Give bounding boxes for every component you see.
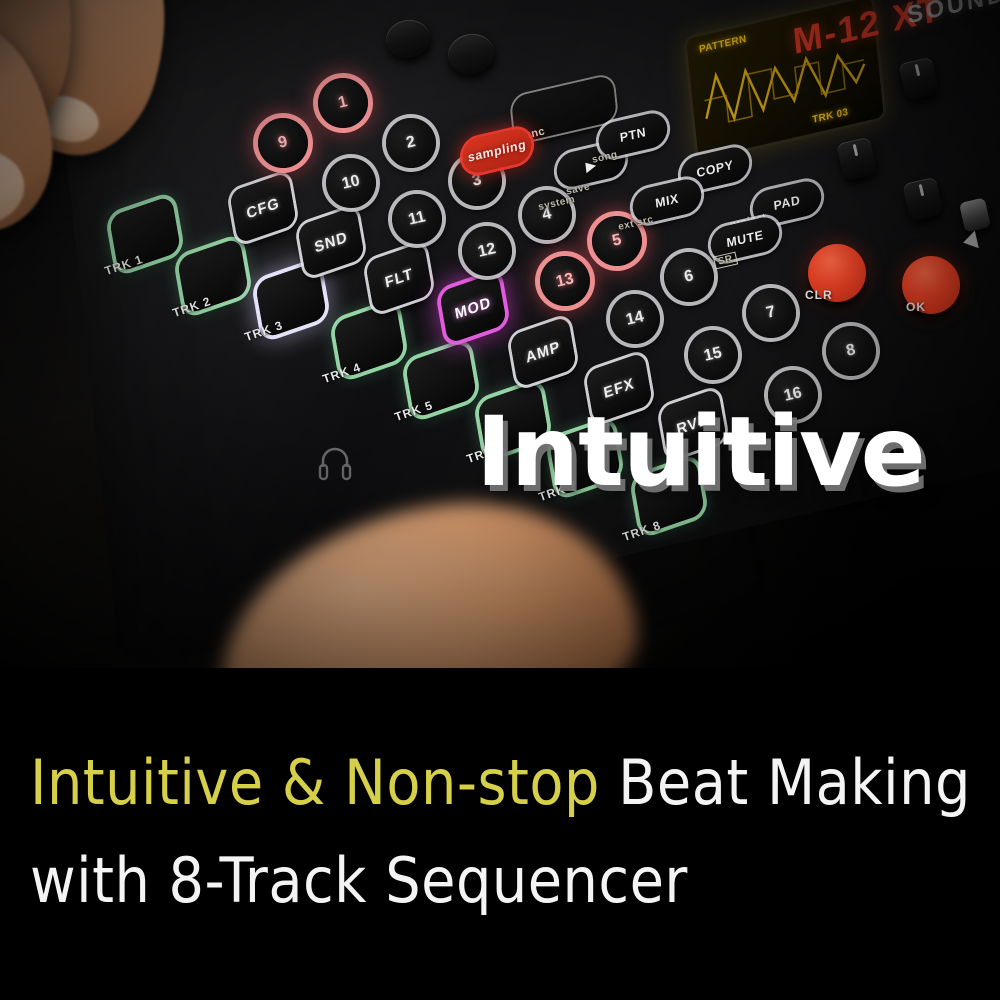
step-button-11-label: 11 <box>407 208 428 229</box>
step-button-9-label: 9 <box>277 133 290 153</box>
function-pad-flt-label: FLT <box>384 265 415 292</box>
step-button-1-label: 1 <box>337 93 350 113</box>
step-button-2-label: 2 <box>405 133 418 153</box>
function-pad-amp-label: AMP <box>524 338 561 367</box>
step-button-8-label: 8 <box>845 341 858 361</box>
utility-key-pad-label: PAD <box>773 193 801 213</box>
step-button-7-label: 7 <box>765 303 778 323</box>
function-pad-snd-label: SND <box>313 228 349 256</box>
step-button-3-label: 3 <box>471 171 484 191</box>
utility-key-mix-label: MIX <box>655 191 680 210</box>
caption-line-1: Intuitive & Non-stop Beat Making <box>30 752 971 814</box>
step-button-6-label: 6 <box>683 267 696 287</box>
user-hand <box>0 0 270 300</box>
product-photo: PATTERN TRK 03 M-12 XT SOUNDCARE TRK 1 T… <box>0 0 1000 668</box>
headphone-icon <box>318 443 352 487</box>
lcd-label-top: PATTERN <box>699 34 747 56</box>
ok-button-label: OK <box>906 300 926 314</box>
step-button-10-label: 10 <box>340 172 361 194</box>
step-button-12-label: 12 <box>476 240 497 262</box>
step-button-5-label: 5 <box>611 231 624 251</box>
step-button-14-label: 14 <box>624 308 645 330</box>
caption-line-1-accent: Intuitive & Non-stop <box>30 746 618 819</box>
overlay-headline: Intuitive <box>476 404 925 500</box>
utility-key-mute-label: MUTE <box>726 228 764 251</box>
function-pad-mod-label: MOD <box>454 293 493 322</box>
caption-band: Intuitive & Non-stop Beat Making with 8-… <box>0 668 1000 1000</box>
caption-line-2: with 8-Track Sequencer <box>30 850 688 912</box>
utility-key-ptn-label: PTN <box>619 125 647 145</box>
caption-line-1-plain: Beat Making <box>618 746 971 819</box>
promo-slide: PATTERN TRK 03 M-12 XT SOUNDCARE TRK 1 T… <box>0 0 1000 1000</box>
step-button-15-label: 15 <box>702 344 723 366</box>
sampling-record-label: sampling <box>467 137 527 164</box>
step-button-13-label: 13 <box>554 270 575 292</box>
utility-key-copy-label: COPY <box>696 158 734 181</box>
clr-button-label: CLR <box>805 288 833 302</box>
